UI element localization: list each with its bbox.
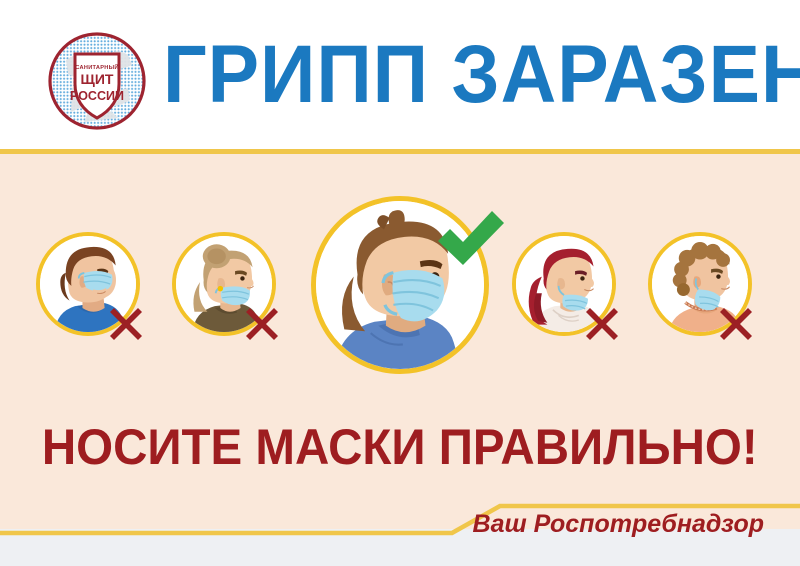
figure-3-illustration bbox=[316, 201, 484, 369]
figure-5 bbox=[648, 232, 752, 336]
figure-1 bbox=[36, 232, 140, 336]
poster-title: ГРИПП ЗАРАЗЕН bbox=[163, 21, 783, 129]
figure-4-illustration bbox=[516, 236, 612, 332]
figure-row bbox=[0, 190, 800, 390]
poster-title-text: ГРИПП ЗАРАЗЕН bbox=[163, 34, 800, 116]
poster-slogan-text: НОСИТЕ МАСКИ ПРАВИЛЬНО! bbox=[42, 422, 758, 472]
poster-root: САНИТАРНЫЙ ЩИТ РОССИИ ГРИПП ЗАРАЗЕН bbox=[0, 0, 800, 566]
figure-5-illustration bbox=[652, 236, 748, 332]
figure-1-illustration bbox=[40, 236, 136, 332]
figure-3 bbox=[311, 196, 489, 374]
sanitary-shield-of-russia-emblem: САНИТАРНЫЙ ЩИТ РОССИИ bbox=[42, 26, 152, 136]
shield-line-2: ЩИТ bbox=[81, 71, 114, 87]
figure-2 bbox=[172, 232, 276, 336]
shield-line-1: САНИТАРНЫЙ bbox=[75, 63, 118, 71]
poster-body: НОСИТЕ МАСКИ ПРАВИЛЬНО! bbox=[0, 154, 800, 529]
footer-text: Ваш Роспотребнадзор bbox=[473, 509, 764, 539]
figure-4 bbox=[512, 232, 616, 336]
figure-2-illustration bbox=[176, 236, 272, 332]
shield-line-3: РОССИИ bbox=[70, 89, 124, 103]
poster-header: САНИТАРНЫЙ ЩИТ РОССИИ ГРИПП ЗАРАЗЕН bbox=[0, 0, 800, 152]
poster-slogan: НОСИТЕ МАСКИ ПРАВИЛЬНО! bbox=[0, 412, 800, 482]
